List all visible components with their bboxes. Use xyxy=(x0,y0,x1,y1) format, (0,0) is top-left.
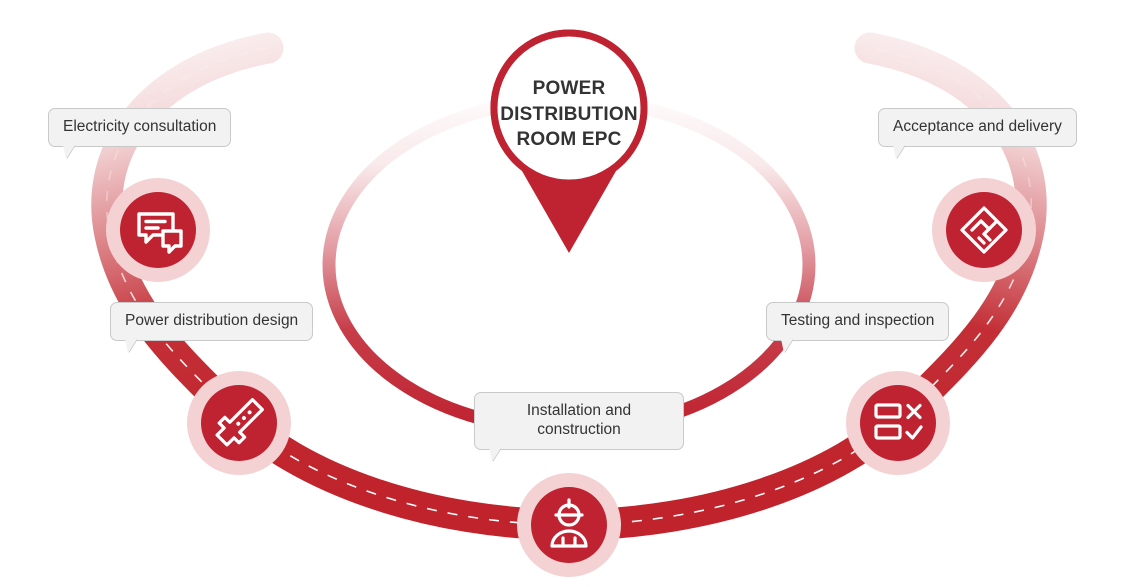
pin-title-line-2: DISTRIBUTION xyxy=(484,102,654,128)
label-testing-and-inspection[interactable]: Testing and inspection xyxy=(766,302,949,341)
label-text: Testing and inspection xyxy=(781,312,934,329)
label-power-distribution-design[interactable]: Power distribution design xyxy=(110,302,313,341)
label-text: Acceptance and delivery xyxy=(893,118,1062,135)
label-text-line-1: Installation and xyxy=(489,402,669,421)
label-acceptance-and-delivery[interactable]: Acceptance and delivery xyxy=(878,108,1077,147)
label-text: Power distribution design xyxy=(125,312,298,329)
label-installation-and-construction[interactable]: Installation and construction xyxy=(474,392,684,450)
pin-title-line-1: POWER xyxy=(484,76,654,102)
pin-title: POWER DISTRIBUTION ROOM EPC xyxy=(484,76,654,153)
label-text-line-2: construction xyxy=(489,421,669,440)
label-text: Electricity consultation xyxy=(63,118,216,135)
pin-title-line-3: ROOM EPC xyxy=(484,127,654,153)
label-electricity-consultation[interactable]: Electricity consultation xyxy=(48,108,231,147)
infographic-canvas: POWER DISTRIBUTION ROOM EPC Electricity … xyxy=(0,0,1139,587)
